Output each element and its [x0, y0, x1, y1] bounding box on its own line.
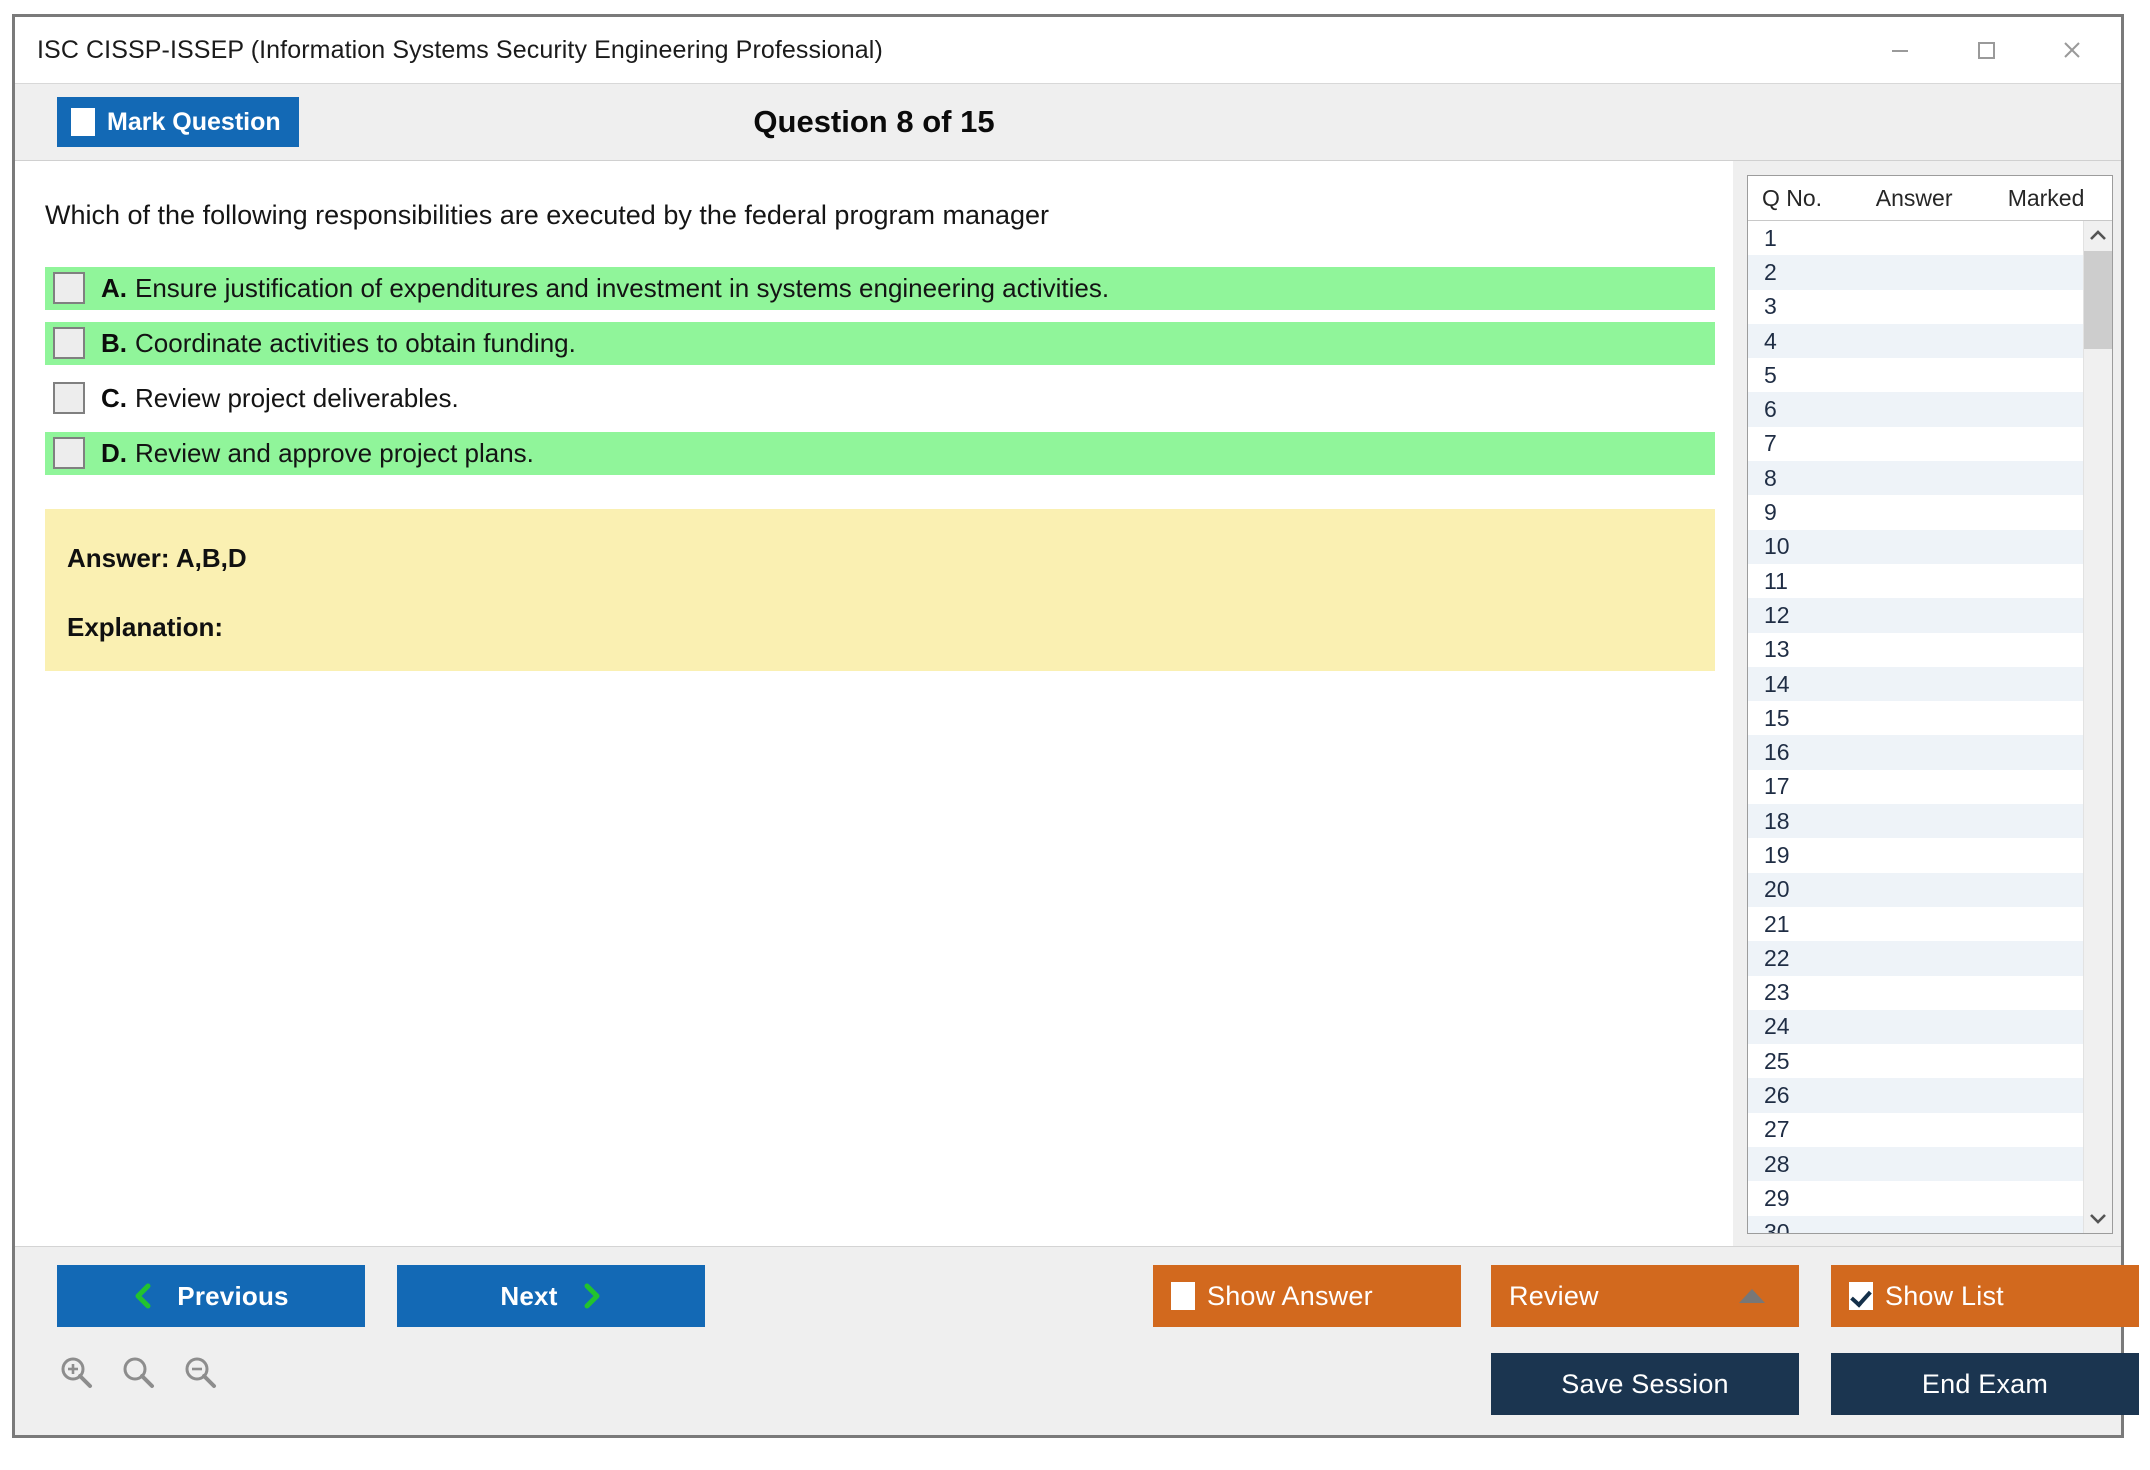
row-question-number: 1	[1748, 225, 1841, 252]
question-pane: Which of the following responsibilities …	[15, 161, 1733, 1246]
close-button[interactable]	[2029, 17, 2115, 83]
row-question-number: 4	[1748, 328, 1841, 355]
column-header-qno: Q No.	[1748, 185, 1848, 212]
row-question-number: 15	[1748, 705, 1841, 732]
scrollbar-thumb[interactable]	[2084, 251, 2112, 349]
option-row-a[interactable]: A. Ensure justification of expenditures …	[45, 267, 1715, 310]
question-list-box: Q No. Answer Marked 12345678910111213141…	[1747, 175, 2113, 1234]
save-session-label: Save Session	[1561, 1369, 1729, 1400]
mark-question-button[interactable]: Mark Question	[57, 97, 299, 147]
option-b-letter: B.	[101, 328, 127, 359]
show-list-checkbox-icon	[1849, 1282, 1873, 1310]
window-title: ISC CISSP-ISSEP (Information Systems Sec…	[37, 36, 883, 65]
save-session-button[interactable]: Save Session	[1491, 1353, 1799, 1415]
previous-label: Previous	[177, 1281, 288, 1312]
app-screenshot: ISC CISSP-ISSEP (Information Systems Sec…	[0, 0, 2150, 1470]
row-question-number: 6	[1748, 396, 1841, 423]
window-body: Which of the following responsibilities …	[15, 161, 2121, 1246]
row-question-number: 23	[1748, 979, 1841, 1006]
question-list-row[interactable]: 4	[1748, 324, 2083, 358]
question-list-rows: 1234567891011121314151617181920212223242…	[1748, 221, 2083, 1233]
row-question-number: 12	[1748, 602, 1841, 629]
next-label: Next	[500, 1281, 557, 1312]
window-title-bar: ISC CISSP-ISSEP (Information Systems Sec…	[15, 17, 2121, 83]
column-header-answer: Answer	[1848, 185, 1980, 212]
question-list-body: 1234567891011121314151617181920212223242…	[1748, 221, 2112, 1233]
question-list-row[interactable]: 21	[1748, 907, 2083, 941]
option-a-letter: A.	[101, 273, 127, 304]
row-question-number: 13	[1748, 636, 1841, 663]
question-list-row[interactable]: 10	[1748, 530, 2083, 564]
question-list-row[interactable]: 23	[1748, 976, 2083, 1010]
window-controls	[1857, 17, 2115, 83]
end-exam-button[interactable]: End Exam	[1831, 1353, 2139, 1415]
option-d-letter: D.	[101, 438, 127, 469]
answer-explanation-panel: Answer: A,B,D Explanation:	[45, 509, 1715, 671]
question-list-row[interactable]: 16	[1748, 735, 2083, 769]
answer-options-list: A. Ensure justification of expenditures …	[15, 267, 1733, 475]
minimize-button[interactable]	[1857, 17, 1943, 83]
explanation-label: Explanation:	[67, 612, 1715, 643]
row-question-number: 8	[1748, 465, 1841, 492]
chevron-right-icon	[582, 1282, 602, 1310]
option-d-text: Review and approve project plans.	[135, 438, 534, 469]
option-row-d[interactable]: D. Review and approve project plans.	[45, 432, 1715, 475]
question-list-row[interactable]: 9	[1748, 495, 2083, 529]
answer-value: Answer: A,B,D	[67, 543, 1715, 574]
option-b-text: Coordinate activities to obtain funding.	[135, 328, 576, 359]
row-question-number: 3	[1748, 293, 1841, 320]
row-question-number: 5	[1748, 362, 1841, 389]
row-question-number: 10	[1748, 533, 1841, 560]
mark-question-label: Mark Question	[107, 108, 281, 137]
question-list-row[interactable]: 26	[1748, 1078, 2083, 1112]
row-question-number: 28	[1748, 1151, 1841, 1178]
row-question-number: 14	[1748, 671, 1841, 698]
zoom-in-icon[interactable]	[57, 1353, 97, 1398]
row-question-number: 16	[1748, 739, 1841, 766]
show-list-label: Show List	[1885, 1281, 2004, 1312]
row-question-number: 19	[1748, 842, 1841, 869]
question-list-row[interactable]: 18	[1748, 804, 2083, 838]
question-list-row[interactable]: 3	[1748, 290, 2083, 324]
maximize-button[interactable]	[1943, 17, 2029, 83]
question-list-header: Q No. Answer Marked	[1748, 176, 2112, 221]
question-list-row[interactable]: 22	[1748, 941, 2083, 975]
row-question-number: 24	[1748, 1013, 1841, 1040]
question-text: Which of the following responsibilities …	[45, 199, 1733, 233]
row-question-number: 27	[1748, 1116, 1841, 1143]
end-exam-label: End Exam	[1922, 1369, 2048, 1400]
next-button[interactable]: Next	[397, 1265, 705, 1327]
option-a-text: Ensure justification of expenditures and…	[135, 273, 1109, 304]
row-question-number: 29	[1748, 1185, 1841, 1212]
show-list-button[interactable]: Show List	[1831, 1265, 2139, 1327]
show-answer-label: Show Answer	[1207, 1281, 1373, 1312]
question-list-row[interactable]: 12	[1748, 598, 2083, 632]
zoom-reset-icon[interactable]	[119, 1353, 159, 1398]
question-list-row[interactable]: 7	[1748, 427, 2083, 461]
option-row-b[interactable]: B. Coordinate activities to obtain fundi…	[45, 322, 1715, 365]
option-c-checkbox[interactable]	[53, 382, 85, 414]
option-a-checkbox[interactable]	[53, 272, 85, 304]
option-c-letter: C.	[101, 383, 127, 414]
question-list-row[interactable]: 25	[1748, 1044, 2083, 1078]
row-question-number: 17	[1748, 773, 1841, 800]
question-list-row[interactable]: 6	[1748, 392, 2083, 426]
row-question-number: 9	[1748, 499, 1841, 526]
question-list-row[interactable]: 15	[1748, 701, 2083, 735]
show-answer-button[interactable]: Show Answer	[1153, 1265, 1461, 1327]
option-row-c[interactable]: C. Review project deliverables.	[45, 377, 1715, 420]
question-list-row[interactable]: 19	[1748, 838, 2083, 872]
triangle-up-icon	[1739, 1289, 1765, 1303]
question-list-row[interactable]: 29	[1748, 1181, 2083, 1215]
row-question-number: 2	[1748, 259, 1841, 286]
question-list-row[interactable]: 27	[1748, 1113, 2083, 1147]
question-header-bar: Mark Question Question 8 of 15	[15, 83, 2121, 161]
row-question-number: 26	[1748, 1082, 1841, 1109]
row-question-number: 30	[1748, 1219, 1841, 1233]
column-header-marked: Marked	[1980, 185, 2112, 212]
review-dropdown-button[interactable]: Review	[1491, 1265, 1799, 1327]
question-list-row[interactable]: 24	[1748, 1010, 2083, 1044]
row-question-number: 21	[1748, 911, 1841, 938]
review-label: Review	[1509, 1281, 1599, 1312]
scrollbar-track[interactable]	[2084, 251, 2112, 1203]
row-question-number: 7	[1748, 430, 1841, 457]
row-question-number: 25	[1748, 1048, 1841, 1075]
mark-question-checkbox-icon	[71, 108, 95, 136]
option-c-text: Review project deliverables.	[135, 383, 459, 414]
question-list-row[interactable]: 2	[1748, 255, 2083, 289]
zoom-out-icon[interactable]	[181, 1353, 221, 1398]
option-b-checkbox[interactable]	[53, 327, 85, 359]
question-list-row[interactable]: 13	[1748, 633, 2083, 667]
show-answer-checkbox-icon	[1171, 1282, 1195, 1310]
question-list-row[interactable]: 5	[1748, 358, 2083, 392]
question-list-row[interactable]: 1	[1748, 221, 2083, 255]
question-list-row[interactable]: 14	[1748, 667, 2083, 701]
question-list-scrollbar[interactable]	[2083, 221, 2112, 1233]
zoom-controls	[57, 1353, 221, 1398]
footer-toolbar: Previous Next Show Answer Review Show Li…	[15, 1246, 2121, 1435]
question-list-row[interactable]: 28	[1748, 1147, 2083, 1181]
question-list-row[interactable]: 30	[1748, 1216, 2083, 1233]
question-list-row[interactable]: 8	[1748, 461, 2083, 495]
question-list-row[interactable]: 11	[1748, 564, 2083, 598]
chevron-left-icon	[133, 1282, 153, 1310]
option-d-checkbox[interactable]	[53, 437, 85, 469]
row-question-number: 11	[1748, 568, 1841, 595]
row-question-number: 20	[1748, 876, 1841, 903]
row-question-number: 18	[1748, 808, 1841, 835]
scroll-down-arrow-icon[interactable]	[2084, 1203, 2112, 1233]
previous-button[interactable]: Previous	[57, 1265, 365, 1327]
row-question-number: 22	[1748, 945, 1841, 972]
question-list-row[interactable]: 17	[1748, 770, 2083, 804]
question-list-row[interactable]: 20	[1748, 873, 2083, 907]
scroll-up-arrow-icon[interactable]	[2084, 221, 2112, 251]
exam-window: ISC CISSP-ISSEP (Information Systems Sec…	[12, 14, 2124, 1438]
question-list-pane: Q No. Answer Marked 12345678910111213141…	[1733, 161, 2121, 1246]
